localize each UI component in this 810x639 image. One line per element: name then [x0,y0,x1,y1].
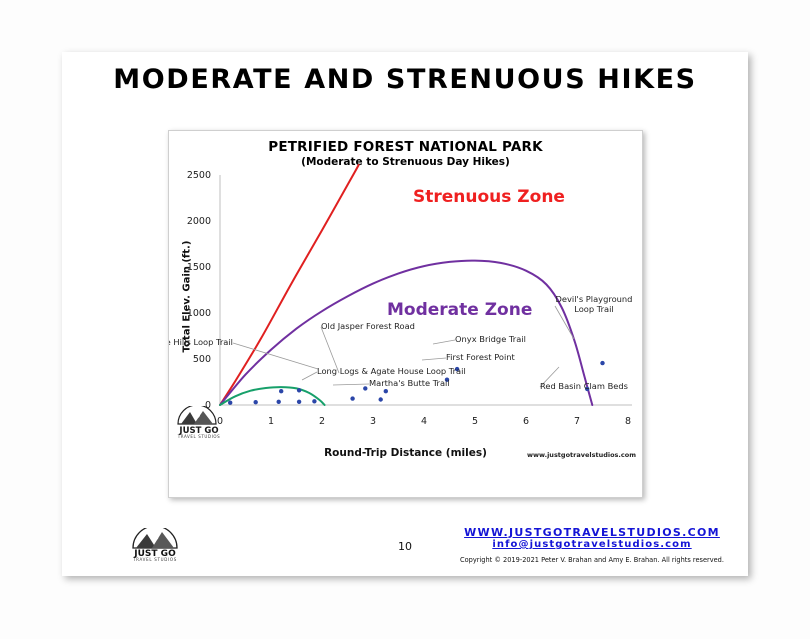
slide-sheet: MODERATE AND STRENUOUS HIKES PETRIFIED F… [62,52,748,576]
label-old-jasper-forest-road: Old Jasper Forest Road [321,321,415,331]
chart-panel: PETRIFIED FOREST NATIONAL PARK (Moderate… [168,130,643,498]
mountain-arch-icon [178,406,216,424]
data-point [379,397,383,401]
label-red-basin-clam-beds: Red Basin Clam Beds [540,381,628,391]
curve-easy-boundary [220,387,325,405]
data-point [297,388,301,392]
data-point [384,389,388,393]
footer-brand-logo: JUST GO TRAVEL STUDIOS [125,528,187,562]
data-point [254,400,258,404]
plot-area [169,131,642,443]
page-number: 10 [380,540,430,553]
mountain-arch-icon [133,528,177,548]
annotation-moderate-zone: Moderate Zone [387,300,532,320]
label-marthas-butte-trail: Martha's Butte Trail [369,378,450,388]
data-point [363,386,367,390]
leader-line-long-logs-agate-house-loop-trail [302,372,317,380]
label-first-forest-point: First Forest Point [446,352,515,362]
leader-line-onyx-bridge-trail [433,340,455,344]
label-long-logs-agate-house-loop-trail: Long Logs & Agate House Loop Trail [317,366,466,376]
label-devils-playground-loop-trail: Devil's Playground Loop Trail [555,294,633,315]
footer-logo-bottom: TRAVEL STUDIOS [132,557,177,562]
data-point [312,399,316,403]
chart-watermark: www.justgotravelstudios.com [527,451,636,459]
screenshot-root: MODERATE AND STRENUOUS HIKES PETRIFIED F… [0,0,810,639]
footer-links: WWW.JUSTGOTRAVELSTUDIOS.COM info@justgot… [444,526,740,550]
website-link[interactable]: WWW.JUSTGOTRAVELSTUDIOS.COM [444,526,740,539]
page-title: MODERATE AND STRENUOUS HIKES [62,64,748,95]
chart-logo-bottom: TRAVEL STUDIOS [177,434,221,439]
data-point [277,400,281,404]
data-point [600,361,604,365]
data-point [297,400,301,404]
data-point [228,401,232,405]
data-point [350,396,354,400]
copyright-notice: Copyright © 2019-2021 Peter V. Brahan an… [444,556,740,564]
data-point [279,389,283,393]
label-onyx-bridge-trail: Onyx Bridge Trail [455,334,526,344]
label-blue-hills-loop-trail: Blue Hills Loop Trail [168,337,233,347]
annotation-strenuous-zone: Strenuous Zone [413,187,565,207]
leader-line-first-forest-point [422,358,446,360]
leader-line-marthas-butte-trail [333,384,369,385]
email-link[interactable]: info@justgotravelstudios.com [444,539,740,550]
chart-brand-logo: JUST GO TRAVEL STUDIOS [172,406,226,440]
